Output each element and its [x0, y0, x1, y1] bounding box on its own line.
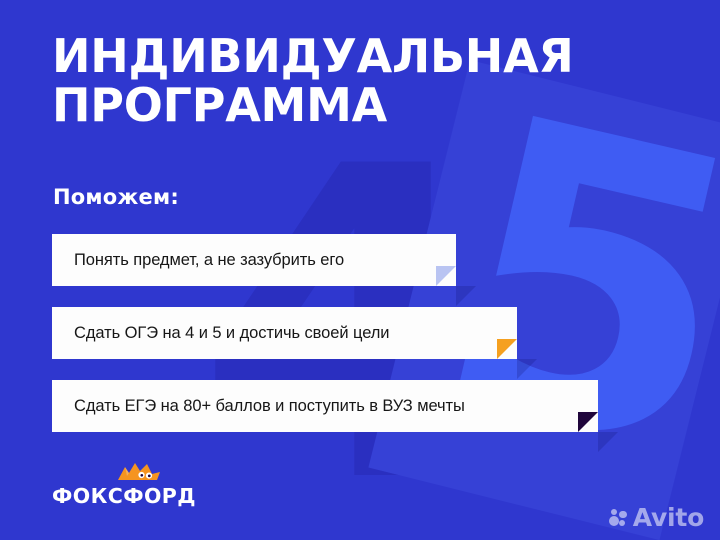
benefit-card: Сдать ОГЭ на 4 и 5 и достичь своей цели [52, 307, 517, 359]
page-title: ИНДИВИДУАЛЬНАЯ ПРОГРАММА [52, 32, 652, 130]
card-fold-shadow [517, 359, 537, 379]
benefit-card-list: Понять предмет, а не зазубрить его Сдать… [52, 234, 598, 453]
card-fold-corner-icon [436, 266, 456, 286]
card-fold-shadow [598, 432, 618, 452]
avito-wordmark: Avito [633, 505, 704, 530]
subtitle-label: Поможем: [53, 185, 179, 209]
avito-dots-icon [609, 508, 628, 527]
benefit-card-label: Понять предмет, а не зазубрить его [52, 251, 378, 270]
benefit-card-label: Сдать ЕГЭ на 80+ баллов и поступить в ВУ… [52, 397, 499, 416]
card-fold-corner-icon [497, 339, 517, 359]
benefit-card: Понять предмет, а не зазубрить его [52, 234, 456, 286]
foxford-wordmark: ФОКСФОРД [52, 484, 196, 508]
benefit-card: Сдать ЕГЭ на 80+ баллов и поступить в ВУ… [52, 380, 598, 432]
fox-head-icon [116, 460, 162, 484]
avito-watermark: Avito [609, 505, 704, 530]
foxford-logo: ФОКСФОРД [52, 456, 232, 508]
card-fold-corner-icon [578, 412, 598, 432]
promo-poster: 4 5 ИНДИВИДУАЛЬНАЯ ПРОГРАММА Поможем: По… [0, 0, 720, 540]
benefit-card-label: Сдать ОГЭ на 4 и 5 и достичь своей цели [52, 324, 423, 343]
card-fold-shadow [456, 286, 476, 306]
